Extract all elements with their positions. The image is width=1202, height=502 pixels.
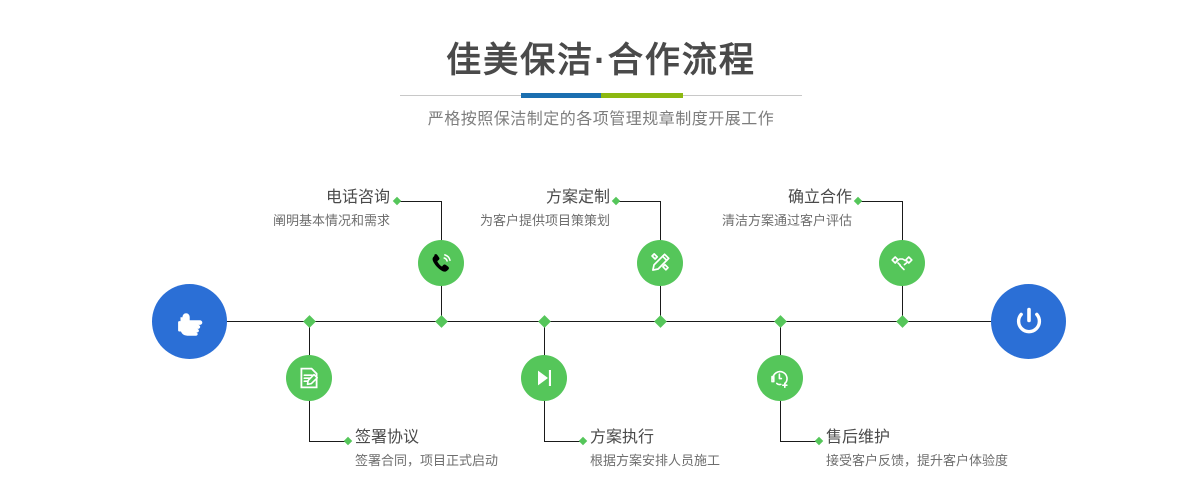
label-title-step-6: 售后维护 <box>826 427 1126 449</box>
node-step-3[interactable] <box>637 240 683 286</box>
connector-hline-step-1 <box>398 201 442 202</box>
node-step-5[interactable] <box>879 240 925 286</box>
node-step-4[interactable] <box>521 355 567 401</box>
axis-diamond-step-4 <box>538 315 551 328</box>
timeline-axis <box>152 321 1052 322</box>
label-title-step-3: 方案定制 <box>440 187 610 209</box>
node-step-1[interactable] <box>418 240 464 286</box>
headset-support-icon <box>766 364 794 392</box>
label-desc-step-2: 签署合同，项目正式启动 <box>355 451 615 471</box>
label-title-step-5: 确立合作 <box>690 187 852 209</box>
connector-hline-step-3 <box>617 201 661 202</box>
axis-diamond-step-2 <box>303 315 316 328</box>
connector-hline-step-5 <box>859 201 903 202</box>
label-desc-step-4: 根据方案安排人员施工 <box>590 451 850 471</box>
process-flow-infographic: 佳美保洁·合作流程 严格按照保洁制定的各项管理规章制度开展工作 <box>0 0 1202 502</box>
power-icon <box>1008 301 1050 343</box>
label-step-6: 售后维护 接受客户反馈，提升客户体验度 <box>826 427 1126 471</box>
label-step-1: 电话咨询 阐明基本情况和需求 <box>145 187 390 231</box>
timeline-end-node <box>991 284 1066 359</box>
pointing-hand-icon <box>169 301 211 343</box>
axis-diamond-step-1 <box>435 315 448 328</box>
label-desc-step-5: 清洁方案通过客户评估 <box>690 211 852 231</box>
label-title-step-4: 方案执行 <box>590 427 850 449</box>
axis-diamond-step-3 <box>654 315 667 328</box>
axis-diamond-step-5 <box>896 315 909 328</box>
label-step-4: 方案执行 根据方案安排人员施工 <box>590 427 850 471</box>
anchor-diamond-step-1 <box>393 197 401 205</box>
anchor-diamond-step-5 <box>854 197 862 205</box>
timeline-start-node <box>152 284 227 359</box>
label-title-step-1: 电话咨询 <box>145 187 390 209</box>
label-desc-step-1: 阐明基本情况和需求 <box>145 211 390 231</box>
document-pencil-icon <box>295 364 323 392</box>
label-step-3: 方案定制 为客户提供项目策策划 <box>440 187 610 231</box>
play-skip-icon <box>530 364 558 392</box>
label-step-2: 签署协议 签署合同，项目正式启动 <box>355 427 615 471</box>
node-step-6[interactable] <box>757 355 803 401</box>
pencil-ruler-icon <box>646 249 674 277</box>
anchor-diamond-step-3 <box>612 197 620 205</box>
handshake-icon <box>888 249 916 277</box>
axis-diamond-step-6 <box>774 315 787 328</box>
label-step-5: 确立合作 清洁方案通过客户评估 <box>690 187 852 231</box>
label-desc-step-6: 接受客户反馈，提升客户体验度 <box>826 451 1126 471</box>
anchor-diamond-step-2 <box>344 437 352 445</box>
node-step-2[interactable] <box>286 355 332 401</box>
label-desc-step-3: 为客户提供项目策策划 <box>440 211 610 231</box>
label-title-step-2: 签署协议 <box>355 427 615 449</box>
phone-ringing-icon <box>427 249 455 277</box>
timeline: 电话咨询 阐明基本情况和需求 签署协议 签 <box>0 0 1202 502</box>
